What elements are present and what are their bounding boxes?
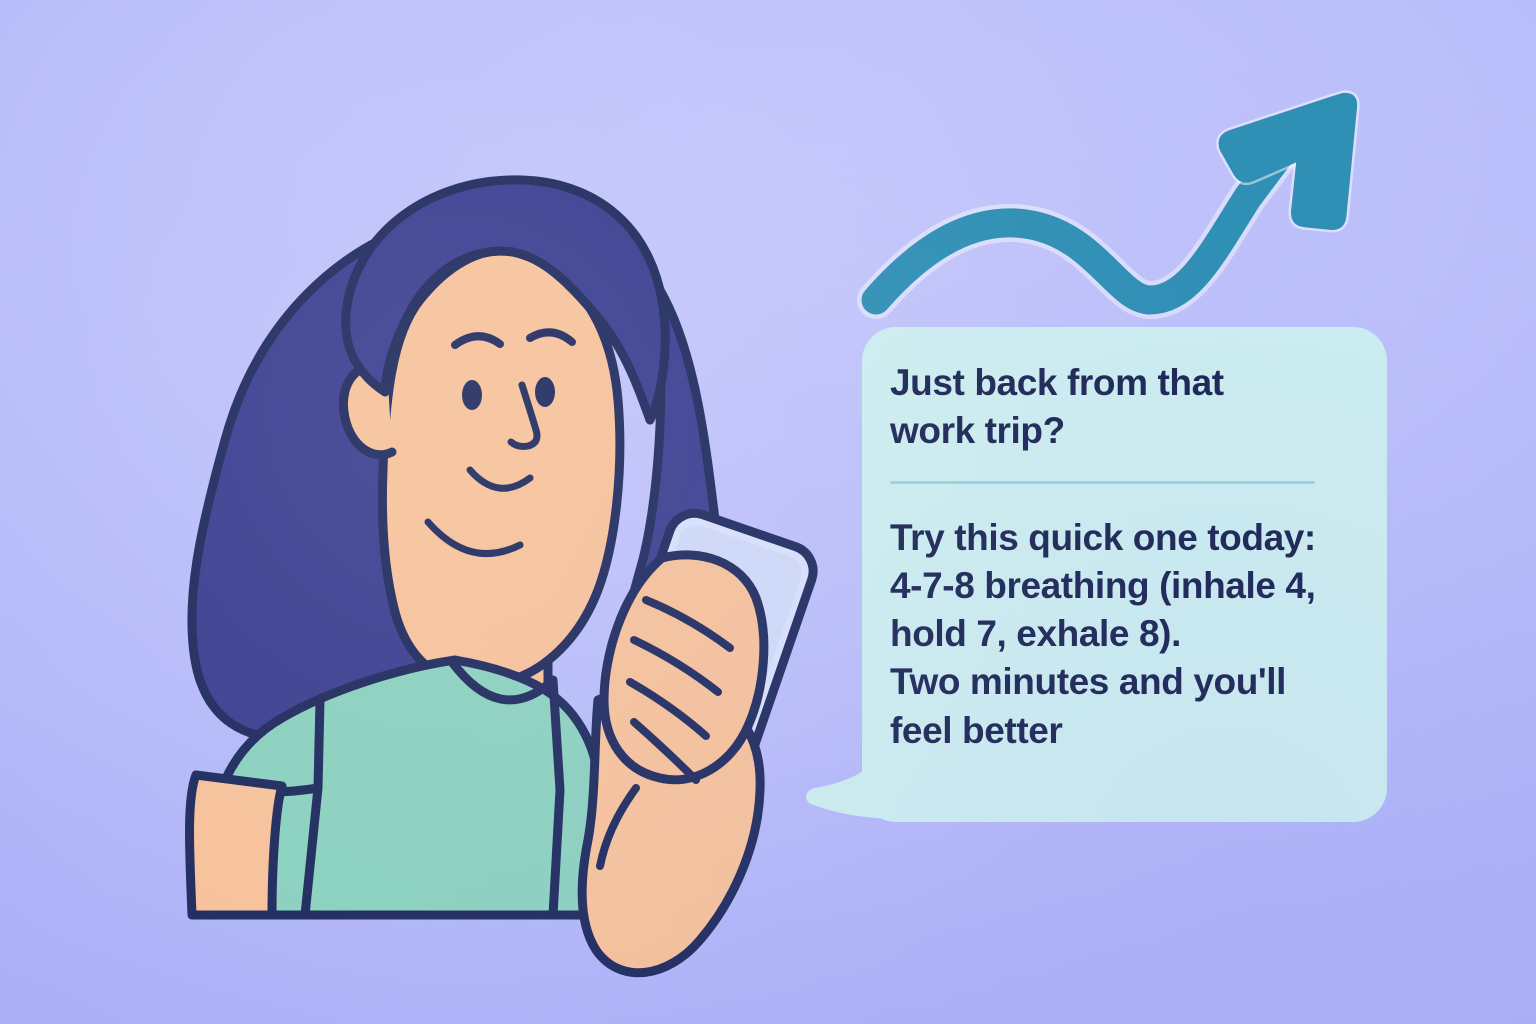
- arm-left: [190, 775, 283, 915]
- bubble-heading-text: Just back from that work trip?: [890, 359, 1347, 455]
- bubble-divider: [890, 481, 1315, 484]
- speech-bubble: Just back from that work trip? Try this …: [862, 327, 1387, 822]
- bubble-body-text: Try this quick one today: 4-7-8 breathin…: [890, 514, 1347, 754]
- eye-left: [462, 380, 482, 410]
- eye-right: [535, 377, 555, 407]
- illustration-scene: Just back from that work trip? Try this …: [0, 0, 1536, 1024]
